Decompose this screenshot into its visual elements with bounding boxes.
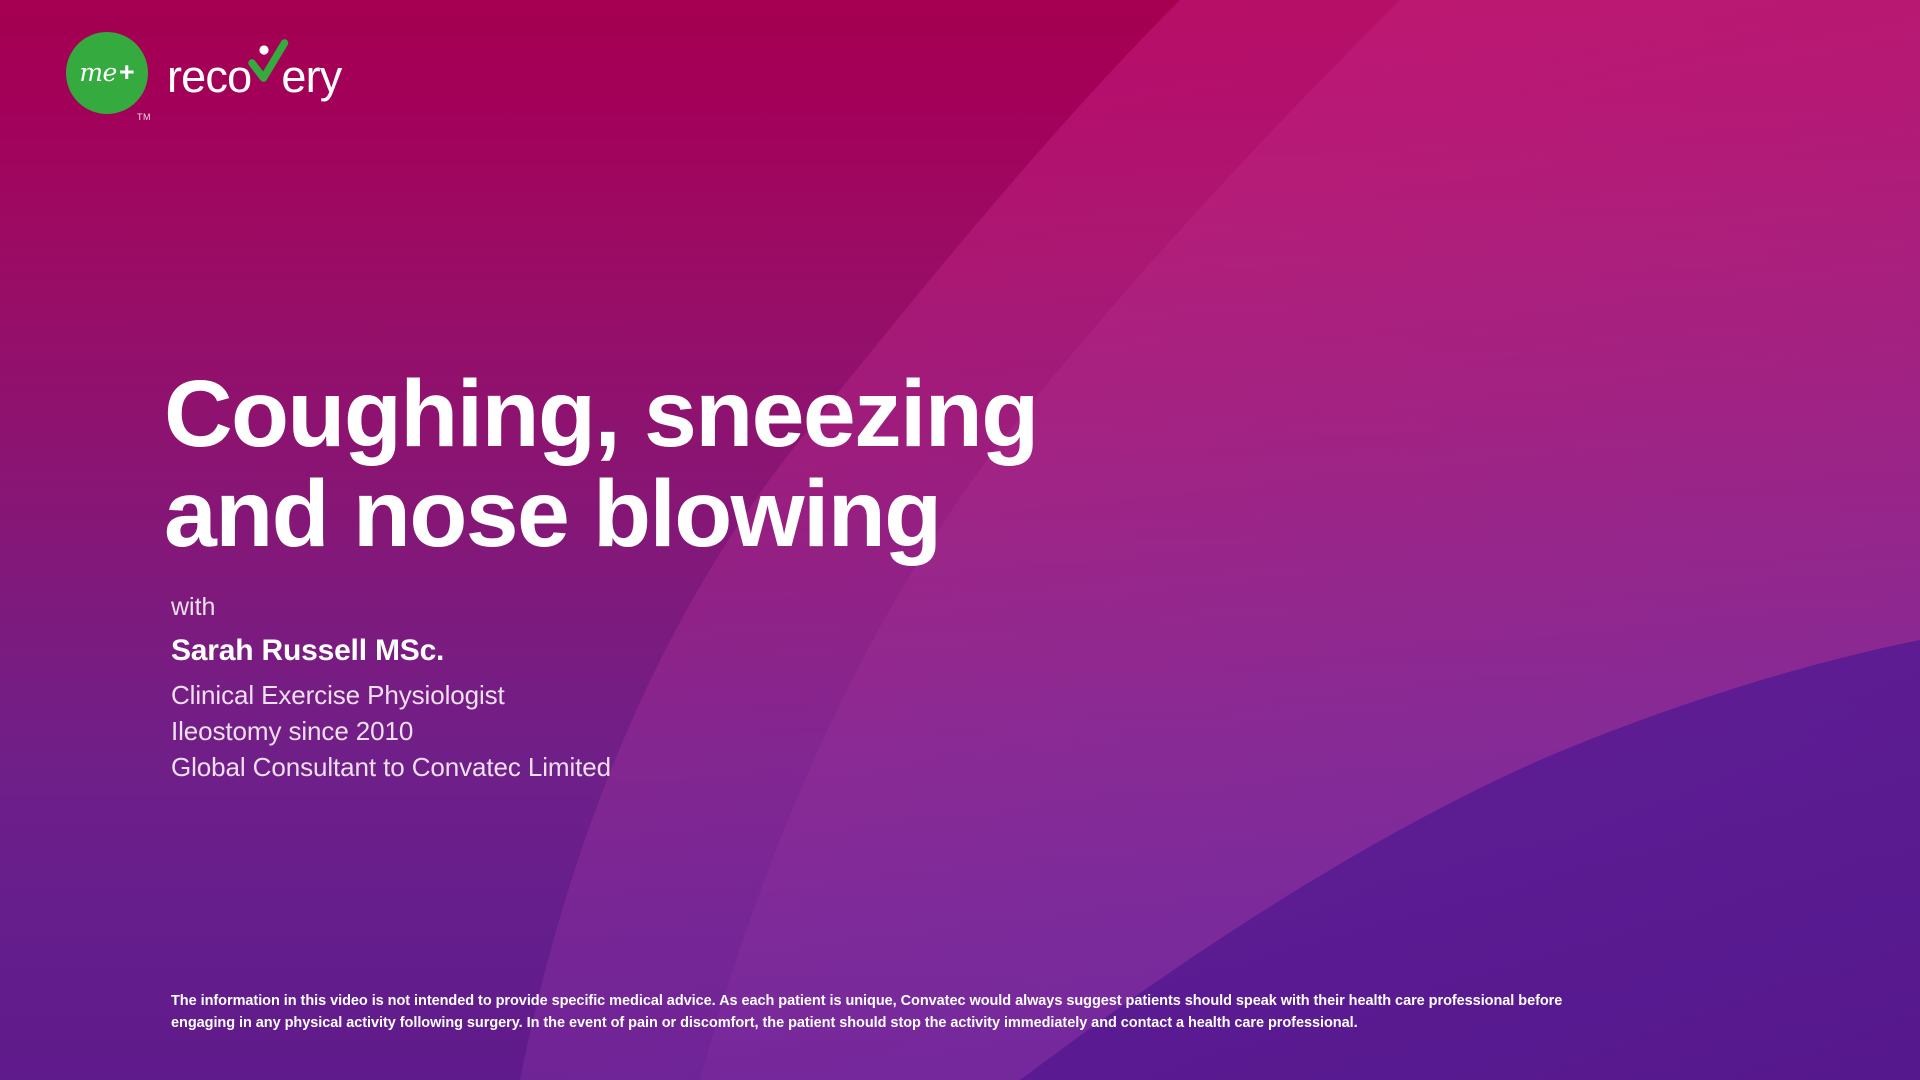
presenter-block: with Sarah Russell MSc. Clinical Exercis… <box>171 592 611 785</box>
logo-me-text: me <box>79 60 117 85</box>
slide-title-line-1: Coughing, sneezing <box>164 364 1038 465</box>
slide-title: Coughing, sneezing and nose blowing <box>164 364 1038 565</box>
logo-wordmark: reco ery <box>167 47 341 99</box>
trademark-symbol: TM <box>137 112 151 122</box>
me-plus-mark: me + TM <box>66 32 148 114</box>
brand-logo[interactable]: me + TM reco ery <box>66 32 341 114</box>
logo-word-prefix: reco <box>167 54 251 99</box>
presenter-credential-2: Ileostomy since 2010 <box>171 714 611 750</box>
plus-icon: + <box>119 59 135 86</box>
slide-title-line-2: and nose blowing <box>164 464 1038 565</box>
presenter-with-label: with <box>171 592 611 623</box>
presenter-credential-1: Clinical Exercise Physiologist <box>171 678 611 714</box>
medical-disclaimer: The information in this video is not int… <box>171 990 1591 1035</box>
presenter-credential-3: Global Consultant to Convatec Limited <box>171 750 611 786</box>
logo-me-plus-group: me + <box>66 32 148 114</box>
title-slide: me + TM reco ery Coughing, sneezing and … <box>0 0 1920 1080</box>
green-checkmark-icon <box>251 47 281 92</box>
logo-word-suffix: ery <box>281 54 341 99</box>
presenter-name: Sarah Russell MSc. <box>171 632 611 670</box>
